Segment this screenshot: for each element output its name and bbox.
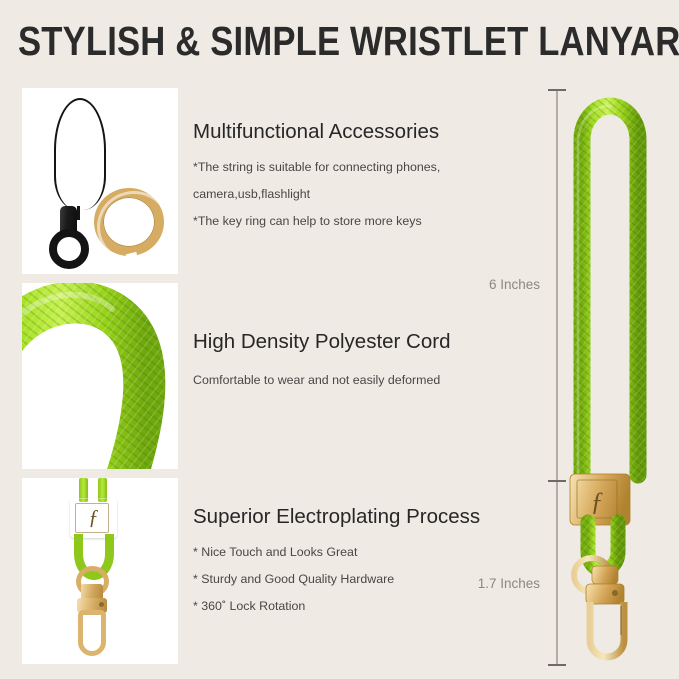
phone-strap-and-keyring-photo: [22, 88, 178, 274]
feature-heading: Superior Electroplating Process: [193, 505, 493, 529]
feature-copy-1: Multifunctional Accessories *The string …: [193, 120, 493, 229]
lobster-clasp-hook-icon: [78, 610, 106, 656]
phone-tether-ring-icon: [49, 229, 89, 269]
braided-cord-closeup-photo: [22, 283, 178, 469]
lobster-clasp-body: [586, 584, 624, 604]
feature-heading: Multifunctional Accessories: [193, 120, 493, 144]
brand-logo-letter-main: ƒ: [591, 487, 604, 516]
clasp-rivet-icon: [99, 602, 104, 607]
braided-cord-illustration: [22, 283, 178, 469]
feature-bullet: * Nice Touch and Looks Great: [193, 545, 493, 560]
brand-logo-letter: ƒ: [88, 507, 99, 528]
phone-tether-string-icon: [54, 98, 106, 210]
feature-heading: High Density Polyester Cord: [193, 330, 493, 354]
dimension-label-1-7-inches: 1.7 Inches: [410, 576, 540, 592]
page-title: STYLISH & SIMPLE WRISTLET LANYARD: [18, 18, 566, 64]
split-key-ring-icon: [94, 188, 164, 256]
lanyard-cord-loop: [578, 106, 638, 475]
lanyard-illustration: ƒ: [520, 70, 679, 679]
dimension-label-6-inches: 6 Inches: [420, 277, 540, 293]
dimension-line-6-inches: [556, 90, 558, 480]
wristlet-lanyard-photo: ƒ: [520, 70, 679, 679]
feature-bullet: * 360˚ Lock Rotation: [193, 599, 493, 614]
feature-bullet: *The string is suitable for connecting p…: [193, 160, 493, 175]
feature-bullet: camera,usb,flashlight: [193, 187, 493, 202]
feature-bullet: *The key ring can help to store more key…: [193, 214, 493, 229]
dimension-line-1-7-inches: [556, 482, 558, 665]
key-ring-gap: [126, 252, 140, 267]
feature-bullet: Comfortable to wear and not easily defor…: [193, 373, 493, 388]
dimension-tick-bottom: [548, 664, 566, 666]
swivel-joint: [592, 566, 618, 584]
lobster-clasp-hook: [590, 602, 624, 657]
feature-copy-2: High Density Polyester Cord Comfortable …: [193, 330, 493, 388]
gold-hardware-closeup-photo: ƒ: [22, 478, 178, 664]
dimension-tick-middle: [548, 480, 566, 482]
gold-logo-block-icon: ƒ: [70, 498, 117, 538]
dimension-tick-top: [548, 89, 566, 91]
feature-copy-3: Superior Electroplating Process * Nice T…: [193, 505, 493, 614]
